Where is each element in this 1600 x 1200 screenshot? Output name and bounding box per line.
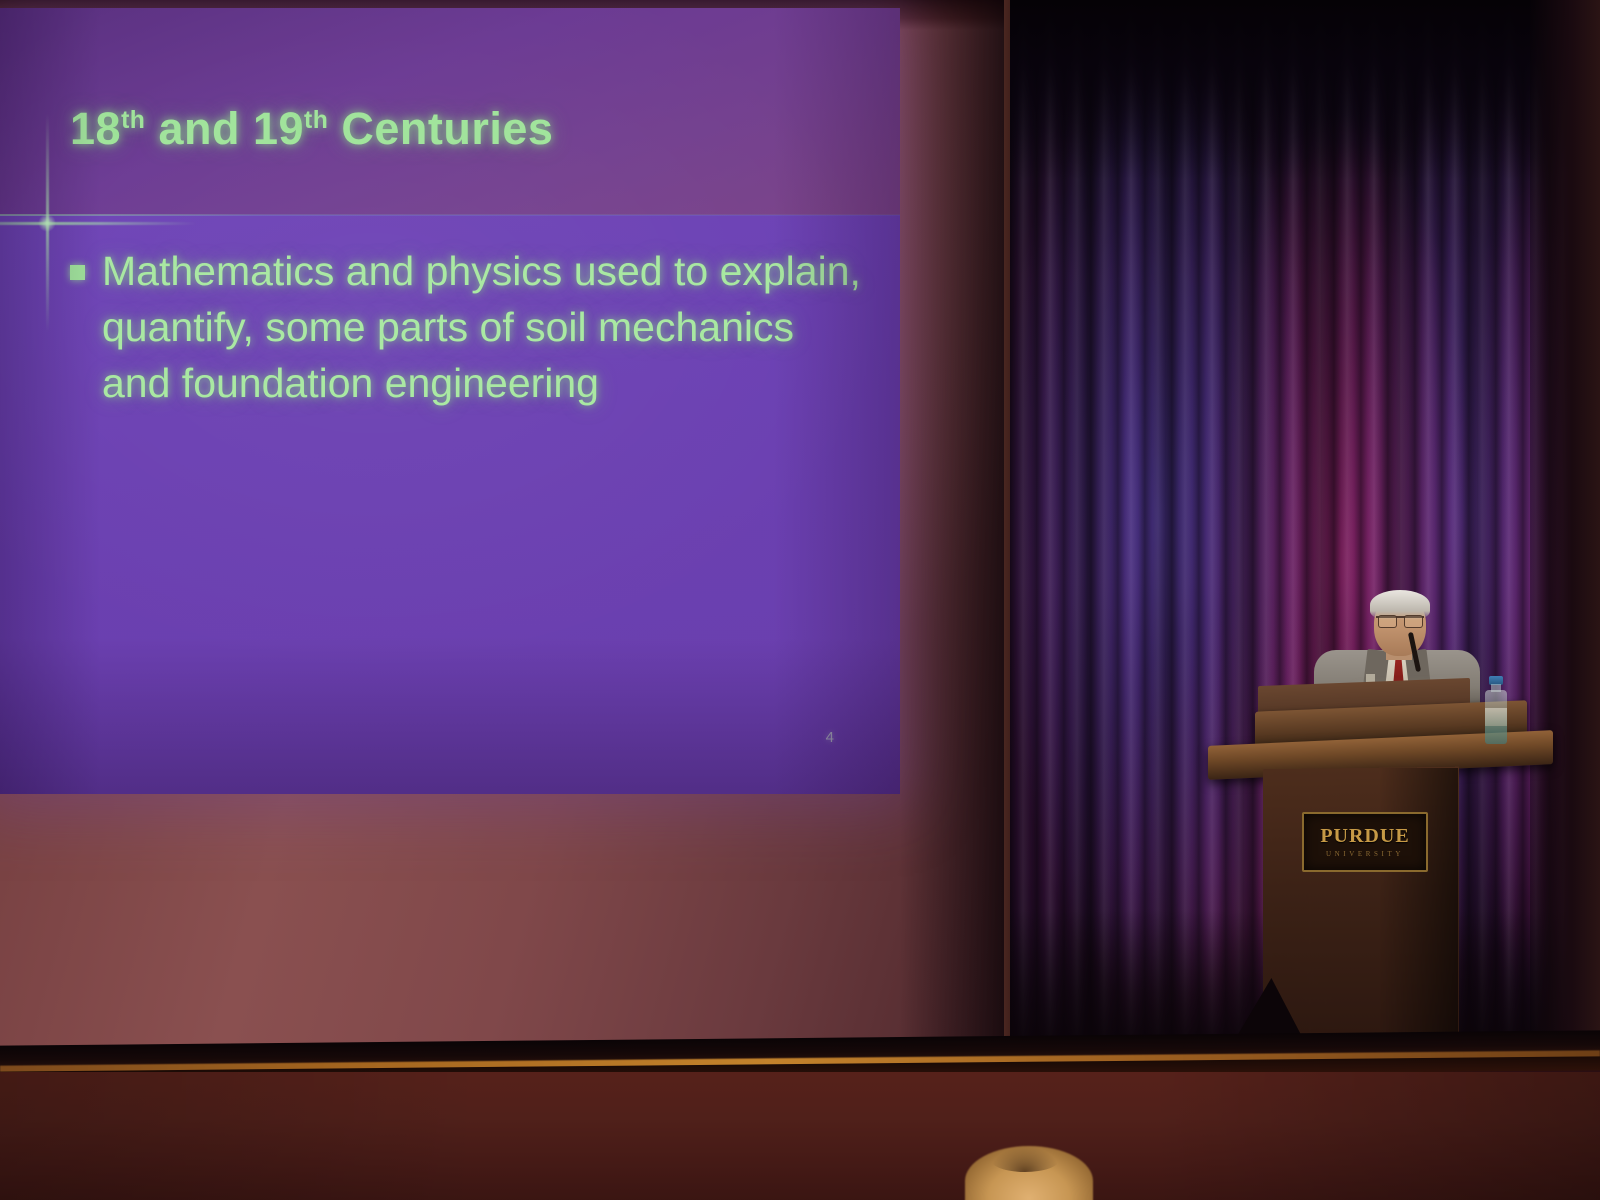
slide-title-part-1: 18 — [70, 103, 121, 154]
slide-title-sup-2: th — [304, 107, 328, 134]
presentation-photo-scene: 18th and 19th Centuries Mathematics and … — [0, 0, 1600, 1200]
slide-bullet-item: Mathematics and physics used to explain,… — [70, 243, 870, 411]
slide-title-sup-1: th — [121, 107, 145, 134]
purdue-university-plaque: PURDUE UNIVERSITY — [1302, 812, 1428, 872]
bullet-square-icon — [70, 265, 85, 280]
projected-slide: 18th and 19th Centuries Mathematics and … — [0, 8, 900, 794]
slide-title: 18th and 19th Centuries — [70, 103, 553, 155]
slide-title-part-3: Centuries — [328, 103, 553, 154]
plaque-main-text: PURDUE — [1320, 826, 1409, 846]
plaque-sub-text: UNIVERSITY — [1326, 850, 1404, 858]
audience-member-hair-shadow — [990, 1146, 1060, 1172]
house-front-wall-shading — [0, 1072, 1600, 1200]
slide-number: 4 — [826, 729, 834, 746]
eyeglass-lens-right — [1404, 615, 1423, 628]
bottle-label — [1485, 708, 1507, 726]
eyeglass-lens-left — [1378, 615, 1397, 628]
water-bottle — [1484, 676, 1508, 744]
curtain-top-shadow — [1010, 0, 1600, 180]
slide-divider-line — [0, 214, 900, 216]
slide-title-part-2: and 19 — [145, 103, 304, 154]
slide-bullet-text: Mathematics and physics used to explain,… — [102, 243, 870, 411]
